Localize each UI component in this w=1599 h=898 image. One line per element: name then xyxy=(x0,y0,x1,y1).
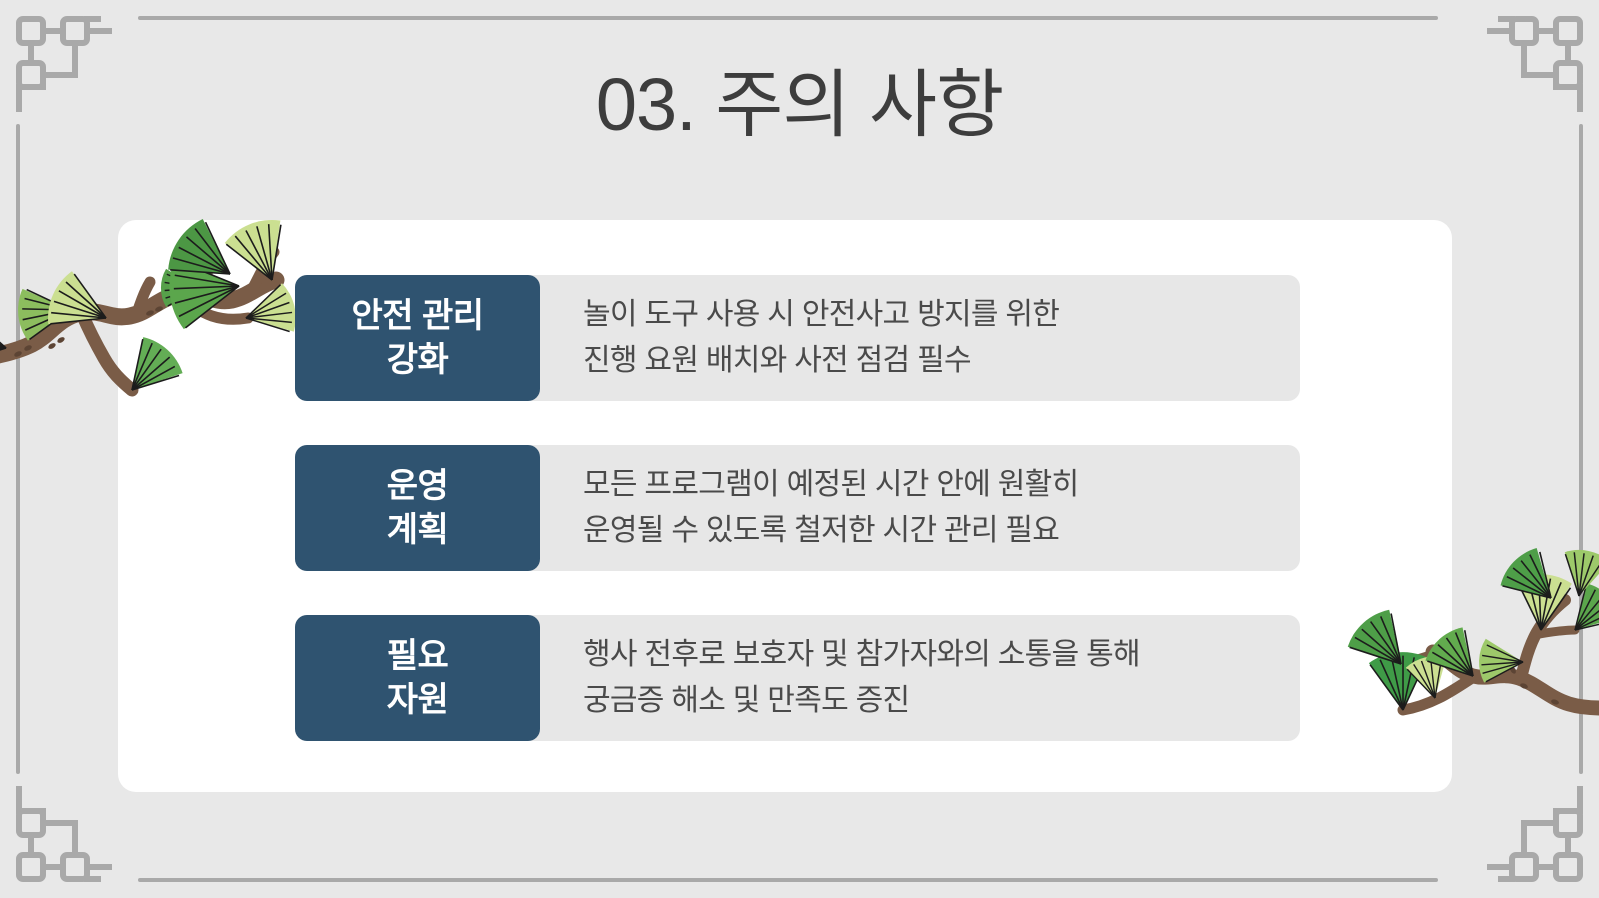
row-description: 행사 전후로 보호자 및 참가자와의 소통을 통해 궁금증 해소 및 만족도 증… xyxy=(540,615,1300,741)
row-description: 놀이 도구 사용 시 안전사고 방지를 위한 진행 요원 배치와 사전 점검 필… xyxy=(540,275,1300,401)
pine-needle-fans xyxy=(1348,540,1599,710)
table-row: 안전 관리 강화 놀이 도구 사용 시 안전사고 방지를 위한 진행 요원 배치… xyxy=(295,275,1300,401)
row-description-line-1: 놀이 도구 사용 시 안전사고 방지를 위한 xyxy=(583,292,1300,338)
row-description-line-2: 운영될 수 있도록 철저한 시간 관리 필요 xyxy=(583,508,1300,554)
row-description-line-2: 진행 요원 배치와 사전 점검 필수 xyxy=(583,338,1300,384)
row-description: 모든 프로그램이 예정된 시간 안에 원활히 운영될 수 있도록 철저한 시간 … xyxy=(540,445,1300,571)
row-tag-line-1: 필요 xyxy=(387,634,449,678)
korean-fretwork-corner-icon xyxy=(1481,780,1591,890)
row-description-line-1: 모든 프로그램이 예정된 시간 안에 원활히 xyxy=(583,462,1300,508)
row-description-line-1: 행사 전후로 보호자 및 참가자와의 소통을 통해 xyxy=(583,632,1300,678)
row-tag-badge: 운영 계획 xyxy=(295,445,540,571)
table-row: 운영 계획 모든 프로그램이 예정된 시간 안에 원활히 운영될 수 있도록 철… xyxy=(295,445,1300,571)
row-tag-badge: 필요 자원 xyxy=(295,615,540,741)
content-card: 안전 관리 강화 놀이 도구 사용 시 안전사고 방지를 위한 진행 요원 배치… xyxy=(118,220,1452,792)
pine-branch-icon xyxy=(1317,538,1599,748)
row-tag-line-2: 계획 xyxy=(387,508,449,552)
page-title: 03. 주의 사항 xyxy=(0,62,1599,147)
pine-branch-bottom-right xyxy=(1317,538,1599,748)
slide-canvas: 안전 관리 강화 놀이 도구 사용 시 안전사고 방지를 위한 진행 요원 배치… xyxy=(0,0,1599,898)
row-description-line-2: 궁금증 해소 및 만족도 증진 xyxy=(583,678,1300,724)
row-tag-badge: 안전 관리 강화 xyxy=(295,275,540,401)
corner-ornament-bottom-left xyxy=(8,780,118,890)
frame-line-bottom xyxy=(138,878,1438,882)
frame-line-top xyxy=(138,16,1438,20)
corner-ornament-bottom-right xyxy=(1481,780,1591,890)
korean-fretwork-corner-icon xyxy=(8,780,118,890)
row-tag-line-1: 안전 관리 xyxy=(351,294,483,338)
row-tag-line-2: 강화 xyxy=(387,338,449,382)
row-tag-line-1: 운영 xyxy=(387,464,449,508)
row-tag-line-2: 자원 xyxy=(387,678,449,722)
table-row: 필요 자원 행사 전후로 보호자 및 참가자와의 소통을 통해 궁금증 해소 및… xyxy=(295,615,1300,741)
